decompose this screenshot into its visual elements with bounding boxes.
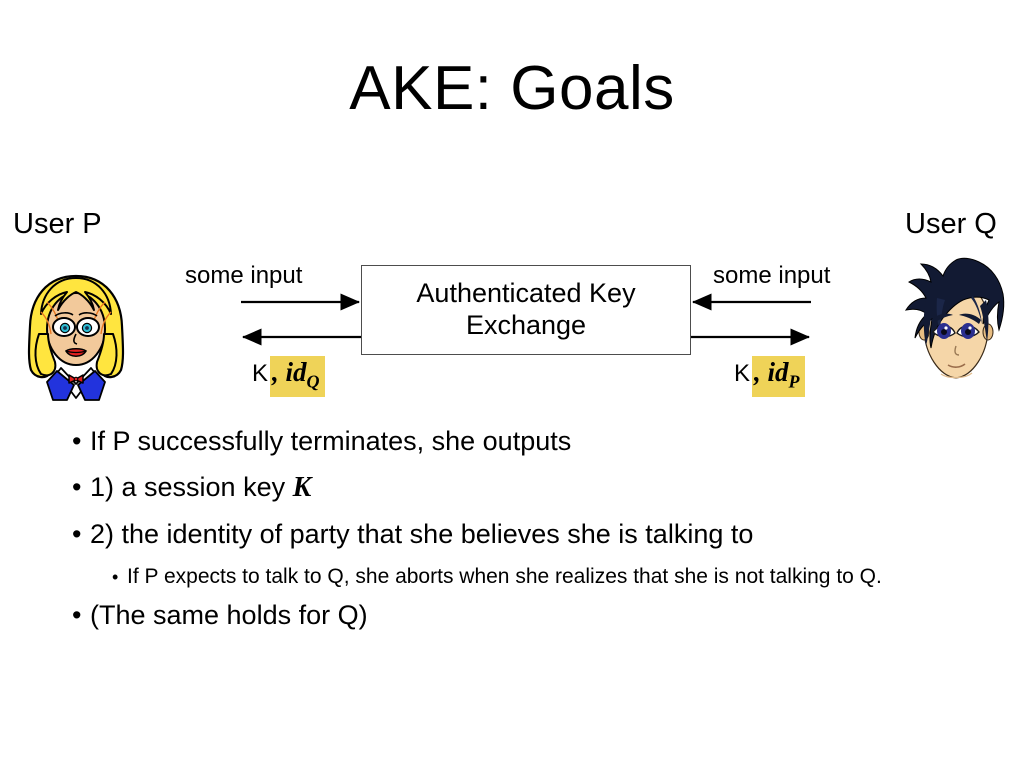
bullet-marker: • [72, 471, 90, 504]
list-item: • 2) the identity of party that she beli… [0, 518, 1024, 551]
sub-list-item: • If P expects to talk to Q, she aborts … [0, 564, 1024, 590]
right-output-id-subscript: P [789, 371, 800, 391]
ake-box-line1: Authenticated Key [416, 278, 635, 308]
page-title: AKE: Goals [0, 56, 1024, 121]
session-key-symbol: K [293, 472, 312, 503]
right-output-label: K , idP [734, 356, 805, 397]
list-item: • If P successfully terminates, she outp… [0, 425, 1024, 458]
bullet-text: If P successfully terminates, she output… [90, 425, 950, 458]
bullet-marker: • [72, 425, 90, 458]
left-output-key: K [252, 360, 270, 388]
bullet-text: 2) the identity of party that she believ… [90, 518, 950, 551]
bullet-marker: • [72, 599, 90, 632]
ake-box-line2: Exchange [466, 310, 586, 340]
left-output-identity-highlight: , idQ [270, 356, 325, 397]
sub-bullet-marker: • [112, 564, 127, 590]
left-output-id-base: id [286, 357, 307, 387]
sub-bullet-text: If P expects to talk to Q, she aborts wh… [127, 564, 932, 590]
bullet-text-before: 1) a session key [90, 472, 293, 502]
left-output-separator: , [272, 357, 279, 387]
user-p-label: User P [13, 208, 102, 241]
ake-box: Authenticated Key Exchange [361, 265, 691, 355]
blonde-woman-avatar-icon [17, 272, 135, 402]
bullet-text: 1) a session key K [90, 471, 950, 505]
right-output-identity-highlight: , idP [752, 356, 805, 397]
user-q-label: User Q [905, 208, 997, 241]
right-output-separator: , [754, 357, 761, 387]
bullet-list: • If P successfully terminates, she outp… [0, 425, 1024, 645]
bullet-marker: • [72, 518, 90, 551]
left-input-label: some input [185, 262, 302, 290]
left-output-id-subscript: Q [307, 371, 320, 391]
left-output-label: K , idQ [252, 356, 325, 397]
right-output-key: K [734, 360, 752, 388]
bullet-text: (The same holds for Q) [90, 599, 950, 632]
list-item: • (The same holds for Q) [0, 599, 1024, 632]
list-item: • 1) a session key K [0, 471, 1024, 505]
right-output-id-base: id [768, 357, 789, 387]
slide-canvas: AKE: Goals User P [0, 0, 1024, 768]
right-input-label: some input [713, 262, 830, 290]
dark-haired-man-avatar-icon [893, 248, 1019, 400]
